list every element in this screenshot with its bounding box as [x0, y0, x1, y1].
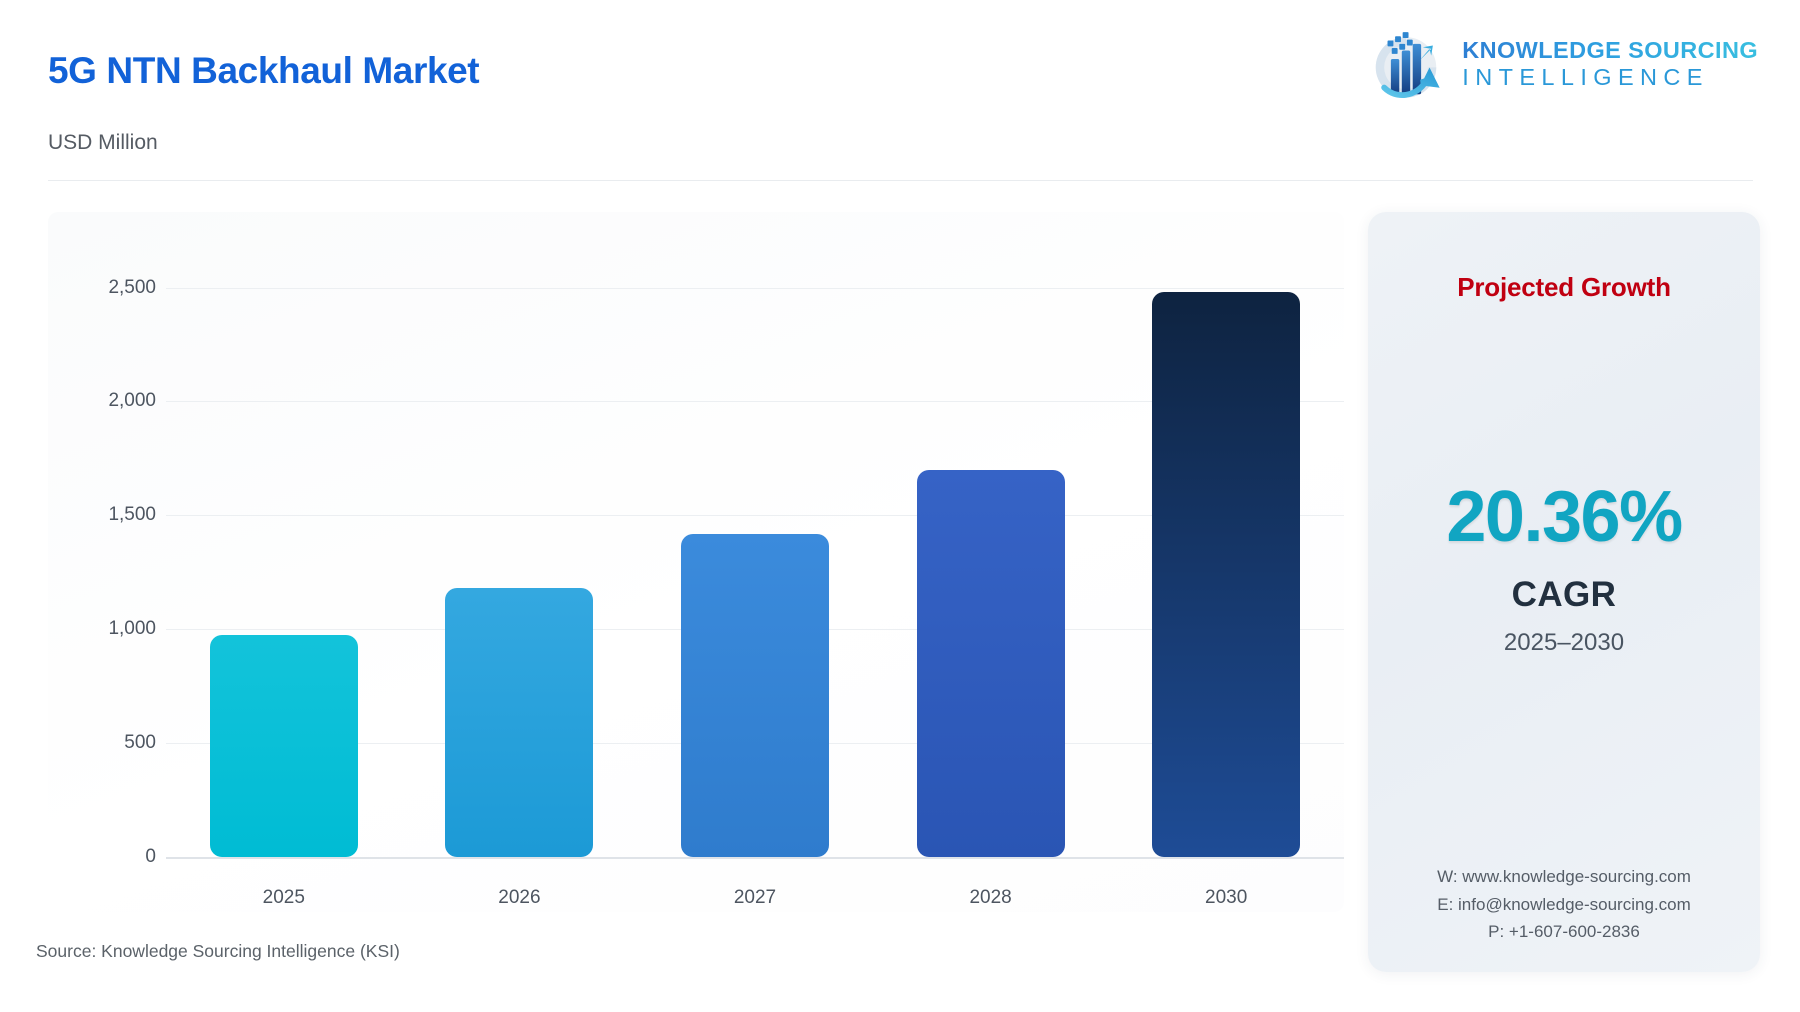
x-tick-label: 2027	[655, 887, 855, 909]
company-logo: KNOWLEDGE SOURCING INTELLIGENCE	[1364, 22, 1758, 106]
chart-page: 5G NTN Backhaul Market USD Million	[0, 0, 1800, 1012]
x-tick-label: 2026	[419, 887, 619, 909]
bar-chart-plot: 05001,0001,5002,0002,500 202520262027202…	[48, 212, 1344, 912]
cagr-period: 2025–2030	[1504, 629, 1624, 657]
page-title: 5G NTN Backhaul Market	[48, 50, 479, 92]
bar-2028[interactable]	[917, 470, 1065, 857]
x-axis-labels: 20252026202720282030	[166, 867, 1344, 907]
card-title: Projected Growth	[1457, 272, 1671, 303]
chart-panel: 05001,0001,5002,0002,500 202520262027202…	[48, 212, 1344, 912]
y-tick-label: 2,000	[66, 390, 156, 412]
logo-line-2: INTELLIGENCE	[1462, 65, 1758, 90]
y-tick-label: 2,500	[66, 277, 156, 299]
y-tick-label: 500	[66, 732, 156, 754]
logo-line-1: KNOWLEDGE SOURCING	[1462, 38, 1758, 63]
cagr-value: 20.36%	[1446, 481, 1681, 553]
contact-phone[interactable]: P: +1-607-600-2836	[1368, 918, 1760, 946]
bar-2027[interactable]	[681, 534, 829, 857]
bar-slot	[184, 212, 384, 857]
page-subtitle: USD Million	[48, 131, 158, 155]
bar-2025[interactable]	[210, 635, 358, 857]
x-tick-label: 2030	[1126, 887, 1326, 909]
bar-2030[interactable]	[1152, 292, 1300, 857]
bar-slot	[655, 212, 855, 857]
bar-slot	[1126, 212, 1326, 857]
x-axis-line	[166, 857, 1344, 859]
page-header: 5G NTN Backhaul Market USD Million	[0, 0, 1800, 180]
contact-block: W: www.knowledge-sourcing.com E: info@kn…	[1368, 863, 1760, 946]
y-tick-label: 1,500	[66, 504, 156, 526]
y-tick-label: 0	[66, 846, 156, 868]
header-divider	[48, 180, 1753, 181]
bar-series	[166, 212, 1344, 857]
cagr-label: CAGR	[1512, 575, 1617, 615]
contact-website[interactable]: W: www.knowledge-sourcing.com	[1368, 863, 1760, 891]
bar-2026[interactable]	[445, 588, 593, 857]
contact-email[interactable]: E: info@knowledge-sourcing.com	[1368, 891, 1760, 919]
bar-slot	[419, 212, 619, 857]
projected-growth-card: Projected Growth 20.36% CAGR 2025–2030 W…	[1368, 212, 1760, 972]
x-tick-label: 2028	[891, 887, 1091, 909]
y-tick-label: 1,000	[66, 618, 156, 640]
logo-wordmark: KNOWLEDGE SOURCING INTELLIGENCE	[1462, 38, 1758, 90]
source-note: Source: Knowledge Sourcing Intelligence …	[36, 941, 400, 962]
globe-arrow-icon	[1364, 22, 1448, 106]
bar-slot	[891, 212, 1091, 857]
x-tick-label: 2025	[184, 887, 384, 909]
